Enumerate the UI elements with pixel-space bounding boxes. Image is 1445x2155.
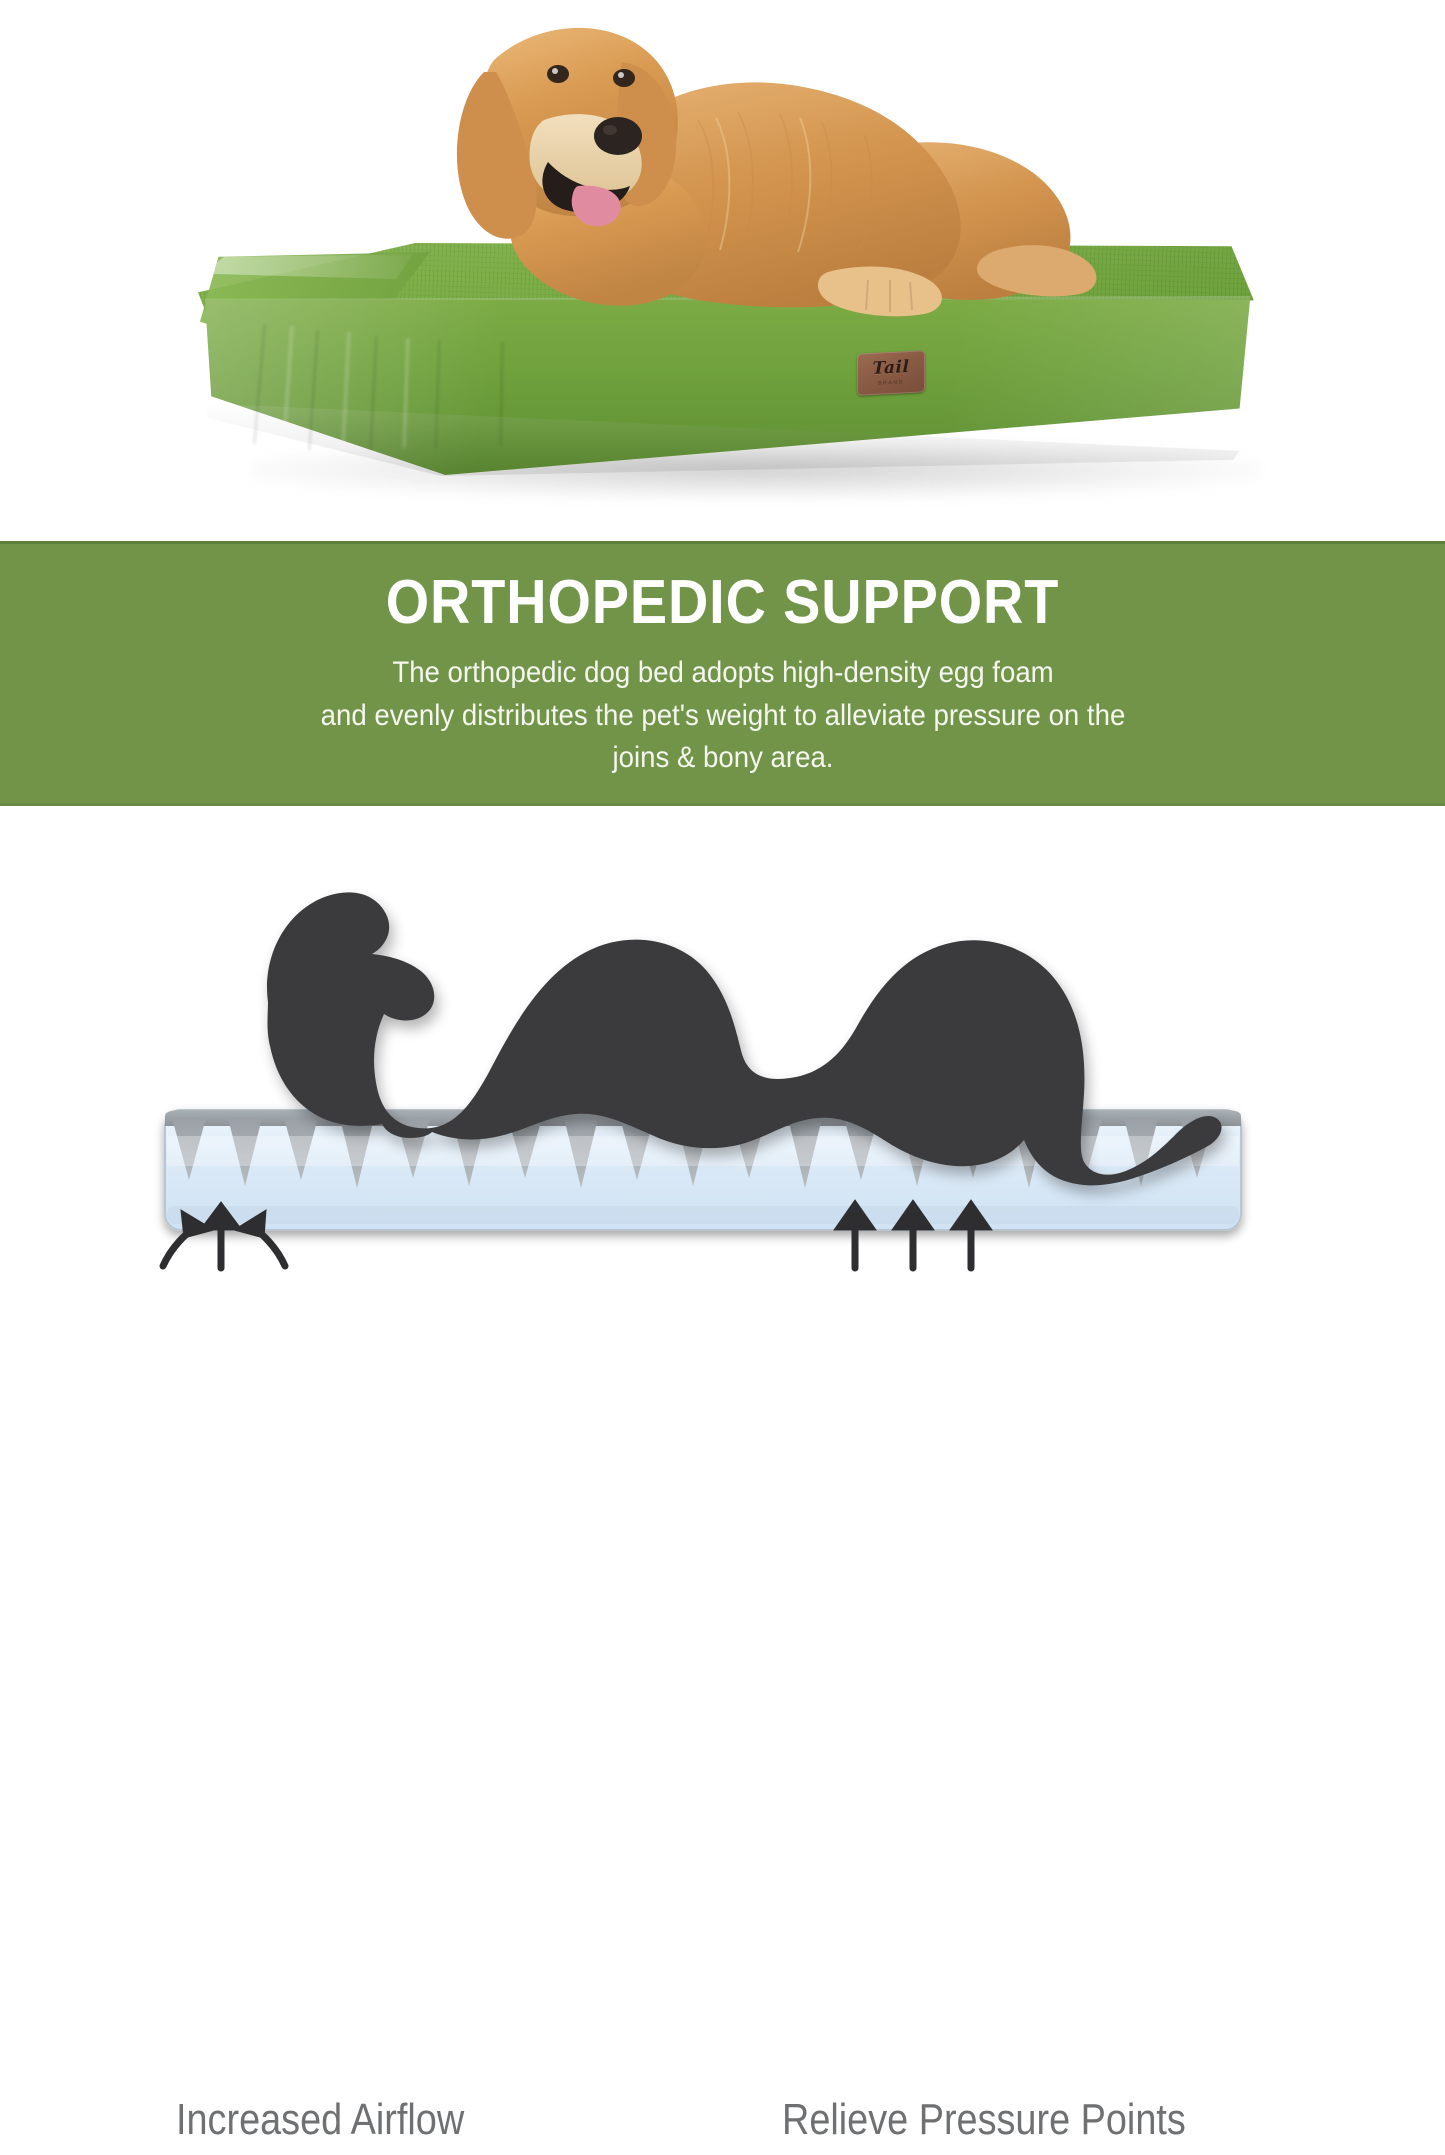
banner-description: The orthopedic dog bed adopts high-densi…	[189, 634, 1256, 780]
label-relieve-pressure-points: Relieve Pressure Points	[782, 2098, 1186, 2142]
dog-nose	[594, 117, 642, 155]
egg-crate-foam-diagram: Increased Airflow Relieve Pressure Point…	[0, 806, 1445, 1349]
brand-logo-text: Tail	[873, 359, 910, 378]
pressure-arrow-group	[834, 1200, 992, 1268]
infographic-page: Tail BRAND	[0, 0, 1445, 1349]
banner-description-line-1: The orthopedic dog bed adopts high-densi…	[189, 652, 1256, 695]
diagram-labels: Increased Airflow Relieve Pressure Point…	[0, 2098, 1445, 2155]
dog-right-eye	[613, 69, 635, 87]
dog-left-eye	[547, 65, 569, 83]
dog-bed-illustration: Tail BRAND	[0, 0, 1445, 541]
product-hero-photo: Tail BRAND	[0, 0, 1445, 541]
golden-retriever-photo	[398, 0, 1098, 330]
banner-description-line-2: and evenly distributes the pet's weight …	[189, 695, 1256, 738]
brand-sub-text: BRAND	[878, 379, 904, 386]
leather-brand-tag: Tail BRAND	[857, 350, 925, 396]
banner-title: ORTHOPEDIC SUPPORT	[72, 544, 1373, 634]
label-increased-airflow: Increased Airflow	[176, 2098, 464, 2142]
orthopedic-support-banner: ORTHOPEDIC SUPPORT The orthopedic dog be…	[0, 541, 1445, 806]
banner-description-line-3: joins & bony area.	[189, 737, 1256, 780]
